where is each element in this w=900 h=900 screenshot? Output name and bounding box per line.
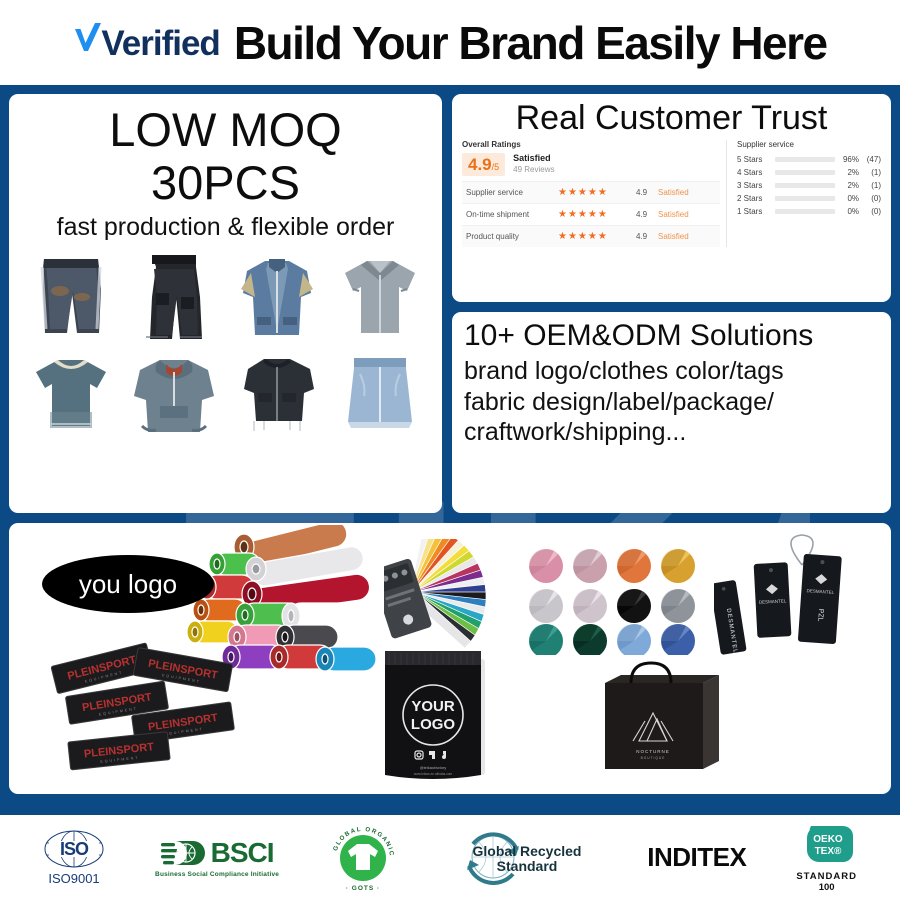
product-cropped-denim-jacket: [227, 346, 328, 440]
table-row: Product quality ★★★★★ 4.9 Satisfied: [462, 225, 720, 247]
denim-mini-skirt-icon: [344, 354, 416, 432]
breakdown-percent: 2%: [839, 181, 859, 190]
rating-criterion: Product quality: [466, 232, 558, 241]
cert-inditex: INDITEX: [647, 842, 746, 873]
svg-text:PZL: PZL: [816, 608, 824, 621]
breakdown-star-label: 5 Stars: [737, 155, 771, 164]
breakdown-percent: 0%: [839, 207, 859, 216]
customization-showcase-card: DESMANTEL DESMANTEL DESMANTEL PZL: [9, 523, 891, 794]
star-rating-icon: ★★★★★: [558, 209, 636, 220]
woven-labels-image: PLEINSPORTEQUIPMENT PLEINSPORTEQUIPMENT …: [39, 641, 239, 781]
product-grid: [17, 250, 434, 440]
you-logo-label: you logo: [79, 569, 177, 600]
svg-text:LOGO: LOGO: [411, 716, 455, 733]
overall-score-row: 4.9 /5 Satisfied 49 Reviews: [462, 153, 720, 176]
black-flared-cargo-jeans-icon: [138, 253, 210, 341]
ratings-summary: Overall Ratings 4.9 /5 Satisfied 49 Revi…: [462, 140, 727, 247]
svg-text:www.leikao.en.alibaba.com: www.leikao.en.alibaba.com: [414, 772, 453, 776]
denim-short-sleeve-shirt-icon: [337, 257, 423, 337]
cert-oeko-tex: OEKO TEX® STANDARD 100: [796, 822, 857, 893]
breakdown-star-label: 3 Stars: [737, 181, 771, 190]
ratings-breakdown: Supplier service 5 Stars 96% (47) 4 Star…: [733, 140, 881, 247]
cropped-denim-jacket-icon: [234, 353, 320, 433]
table-row: Supplier service ★★★★★ 4.9 Satisfied: [462, 181, 720, 203]
showcase-inner: DESMANTEL DESMANTEL DESMANTEL PZL: [9, 523, 891, 794]
svg-text:· GOTS ·: · GOTS ·: [346, 885, 380, 892]
breakdown-count: (0): [859, 194, 881, 203]
cert-iso: ISO ISO9001: [43, 830, 105, 886]
rating-score: 4.9: [636, 210, 658, 219]
overall-ratings-label: Overall Ratings: [462, 140, 720, 149]
oem-title: 10+ OEM&ODM Solutions: [464, 318, 879, 354]
svg-text:BOUTIQUE: BOUTIQUE: [641, 756, 666, 760]
iso-globe-icon: ISO: [43, 830, 105, 868]
cert-global-recycled-standard: Global Recycled Standard: [447, 830, 597, 886]
breakdown-count: (1): [859, 168, 881, 177]
denim-hoodie-icon: [130, 352, 218, 434]
breakdown-star-label: 4 Stars: [737, 168, 771, 177]
bsci-hand-globe-icon: [161, 837, 207, 869]
svg-text:@leikaofactory: @leikaofactory: [420, 765, 447, 770]
washed-tee-icon: [30, 356, 112, 430]
product-distressed-denim-shorts: [21, 250, 122, 344]
cert-inditex-label: INDITEX: [647, 842, 746, 873]
breakdown-row: 1 Stars 0% (0): [737, 207, 881, 216]
trust-title: Real Customer Trust: [462, 101, 881, 137]
rating-criterion: Supplier service: [466, 188, 558, 197]
overall-score-meta: Satisfied 49 Reviews: [513, 153, 554, 174]
breakdown-count: (47): [859, 155, 881, 164]
moq-title-line1: LOW MOQ: [17, 104, 434, 157]
cert-oeko-standard-label: STANDARD: [796, 871, 857, 882]
breakdown-bar-track: [775, 183, 835, 188]
product-denim-short-sleeve-shirt: [329, 250, 430, 344]
rating-tag: Satisfied: [658, 232, 689, 241]
you-logo-badge: you logo: [42, 555, 214, 613]
oem-line-1: brand logo/clothes color/tags: [464, 356, 879, 387]
cert-gots: GLOBAL ORGANIC TEXTILE STANDARD · GOTS ·: [329, 824, 397, 892]
gots-organic-textile-icon: GLOBAL ORGANIC TEXTILE STANDARD · GOTS ·: [329, 824, 397, 892]
product-black-flared-cargo-jeans: [124, 250, 225, 344]
breakdown-count: (0): [859, 207, 881, 216]
overall-score-value: 4.9: [468, 156, 492, 173]
svg-text:Standard: Standard: [497, 858, 558, 874]
svg-text:Global Recycled: Global Recycled: [473, 843, 582, 859]
star-rating-icon: ★★★★★: [558, 231, 636, 242]
star-rating-icon: ★★★★★: [558, 187, 636, 198]
page-title: Build Your Brand Easily Here: [234, 16, 827, 70]
color-swatch-fan-image: [384, 539, 499, 651]
oeko-tex-icon: OEKO TEX®: [801, 822, 853, 868]
breakdown-star-label: 1 Stars: [737, 207, 771, 216]
oem-odm-solutions-card: 10+ OEM&ODM Solutions brand logo/clothes…: [452, 312, 891, 513]
moq-title-line2: 30PCS: [17, 157, 434, 210]
real-customer-trust-card: Real Customer Trust Overall Ratings 4.9 …: [452, 94, 891, 302]
oem-line-3: craftwork/shipping...: [464, 417, 879, 448]
poly-mailer-bag-image: YOUR LOGO @leikaofactory www.leikao.en.a…: [371, 639, 511, 785]
breakdown-percent: 96%: [839, 155, 859, 164]
rating-score: 4.9: [636, 188, 658, 197]
cert-bsci: BSCI Business Social Compliance Initiati…: [155, 837, 279, 878]
blue-check-icon: [73, 21, 103, 55]
low-moq-card: LOW MOQ 30PCS fast production & flexible…: [9, 94, 442, 513]
paper-shopping-bag-image: NOCTURNE BOUTIQUE: [587, 659, 727, 783]
breakdown-row: 5 Stars 96% (47): [737, 155, 881, 164]
overall-score-status: Satisfied: [513, 153, 554, 163]
global-recycled-standard-icon: Global Recycled Standard: [447, 830, 597, 886]
breakdown-row: 2 Stars 0% (0): [737, 194, 881, 203]
svg-text:OEKO: OEKO: [813, 834, 843, 845]
table-row: On-time shipment ★★★★★ 4.9 Satisfied: [462, 203, 720, 225]
product-washed-tee: [21, 346, 122, 440]
breakdown-bar-track: [775, 196, 835, 201]
distressed-denim-shorts-icon: [34, 255, 108, 339]
breakdown-bar-track: [775, 157, 835, 162]
svg-text:ISO: ISO: [60, 839, 89, 859]
product-denim-mini-skirt: [329, 346, 430, 440]
rating-score: 4.9: [636, 232, 658, 241]
content-frame: LEIKA LOW MOQ 30PCS fast production & fl…: [0, 85, 900, 815]
oem-line-2: fabric design/label/package/: [464, 387, 879, 418]
page-header: Verified Build Your Brand Easily Here: [0, 0, 900, 85]
review-count: 49 Reviews: [513, 165, 554, 174]
hang-tags-image: DESMANTEL DESMANTEL DESMANTEL PZL: [714, 531, 884, 661]
breakdown-bar-track: [775, 170, 835, 175]
cert-oeko-100-label: 100: [819, 882, 835, 893]
breakdown-row: 3 Stars 2% (1): [737, 181, 881, 190]
verified-label: Verified: [101, 24, 219, 64]
overall-score-denominator: /5: [492, 163, 500, 172]
rating-tag: Satisfied: [658, 188, 689, 197]
certification-bar: ISO ISO9001 BSCI Business Social Complia…: [0, 815, 900, 900]
breakdown-label: Supplier service: [737, 140, 881, 149]
breakdown-bar-track: [775, 209, 835, 214]
product-denim-hoodie: [124, 346, 225, 440]
breakdown-row: 4 Stars 2% (1): [737, 168, 881, 177]
breakdown-count: (1): [859, 181, 881, 190]
rating-criterion: On-time shipment: [466, 210, 558, 219]
verified-badge: Verified: [73, 21, 219, 64]
svg-text:NOCTURNE: NOCTURNE: [636, 749, 670, 754]
ratings-panel: Overall Ratings 4.9 /5 Satisfied 49 Revi…: [462, 140, 881, 247]
svg-text:YOUR: YOUR: [411, 698, 455, 715]
svg-text:TEX®: TEX®: [814, 846, 841, 857]
moq-subtitle: fast production & flexible order: [17, 213, 434, 242]
breakdown-percent: 2%: [839, 168, 859, 177]
overall-score-badge: 4.9 /5: [462, 153, 505, 176]
breakdown-percent: 0%: [839, 194, 859, 203]
washed-denim-jacket-icon: [235, 255, 319, 339]
rating-tag: Satisfied: [658, 210, 689, 219]
product-washed-denim-jacket: [227, 250, 328, 344]
breakdown-star-label: 2 Stars: [737, 194, 771, 203]
cert-bsci-label: BSCI: [211, 837, 274, 869]
cert-iso-label: ISO9001: [48, 871, 99, 886]
cert-bsci-sublabel: Business Social Compliance Initiative: [155, 871, 279, 878]
fabric-color-circles-image: [528, 547, 704, 655]
